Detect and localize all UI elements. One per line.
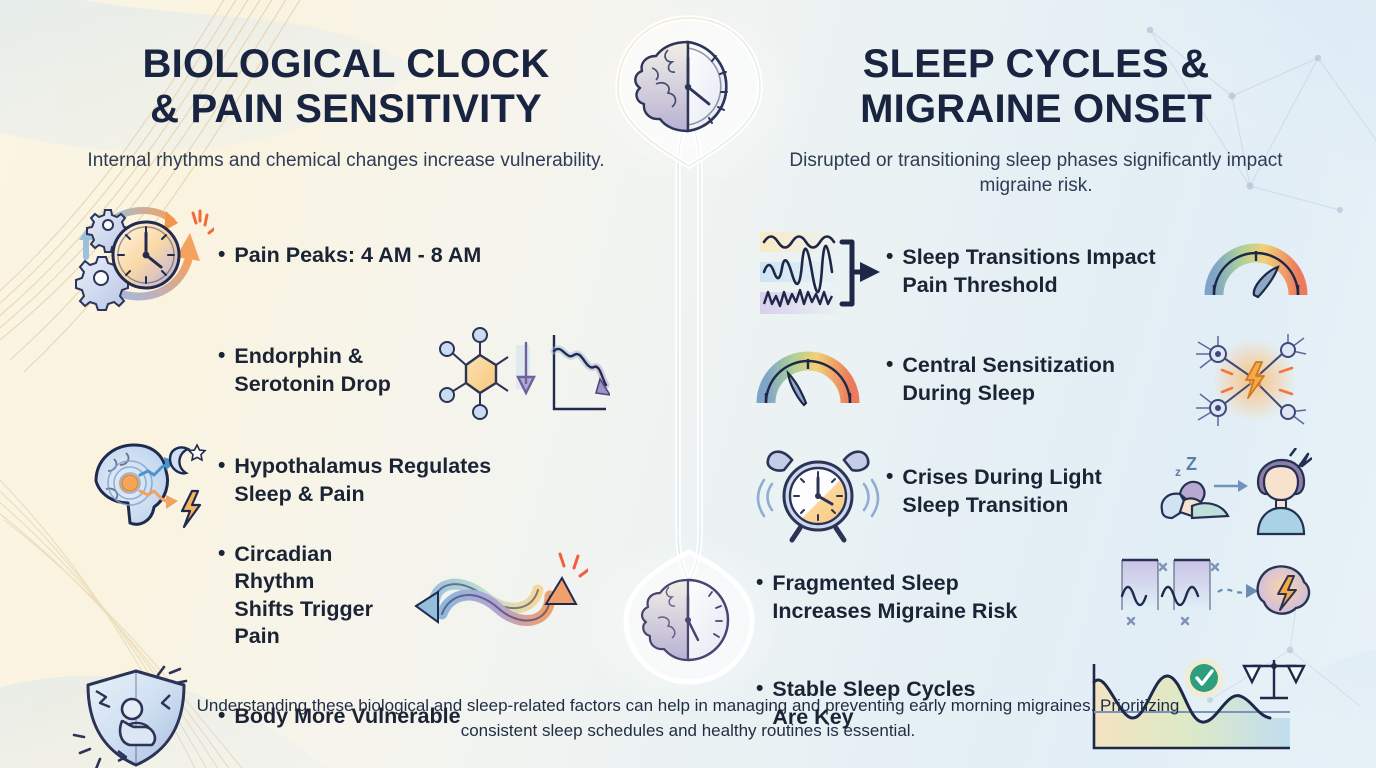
bullet-dot: •: [218, 242, 225, 269]
list-item-text: • Crises During Light Sleep Transition: [886, 464, 1158, 519]
brainwave-bands-arrow-icon: [756, 224, 882, 320]
clock-gears-arrows-icon: [66, 199, 214, 313]
alarm-clock-icon: [756, 440, 880, 544]
right-column-title: SLEEP CYCLES & MIGRAINE ONSET: [756, 42, 1316, 132]
footer-note: Understanding these biological and sleep…: [188, 694, 1188, 743]
right-column-subtitle: Disrupted or transitioning sleep phases …: [756, 148, 1316, 198]
fragmented-wave-brain-icon: [1116, 552, 1312, 644]
list-item-text: • Hypothalamus Regulates Sleep & Pain: [218, 453, 626, 508]
gauge-meter-icon: [756, 349, 860, 411]
svg-text:z: z: [1175, 465, 1181, 479]
neuron-spark-icon: [1188, 328, 1310, 432]
list-item: • Hypothalamus Regulates Sleep & Pain: [66, 429, 626, 533]
right-column: SLEEP CYCLES & MIGRAINE ONSET Disrupted …: [756, 42, 1316, 756]
list-item-text: • Circadian Rhythm Shifts Trigger Pain: [218, 541, 404, 651]
bullet-dot: •: [756, 570, 763, 597]
right-items-list: • Sleep Transitions Impact Pain Threshol…: [756, 224, 1316, 756]
list-item: • Sleep Transitions Impact Pain Threshol…: [756, 224, 1316, 320]
list-item: • Central Sensitization During Sleep: [756, 328, 1316, 432]
list-item: • Fragmented Sleep Increases Migraine Ri…: [756, 552, 1316, 644]
sleeping-to-headache-icon: Z z: [1158, 448, 1312, 536]
infinity-loop-arrows-icon: [404, 544, 588, 648]
list-item-text: • Pain Peaks: 4 AM - 8 AM: [218, 242, 626, 270]
list-item: • Endorphin & Serotonin Drop: [66, 321, 626, 421]
list-item-text: • Endorphin & Serotonin Drop: [218, 343, 414, 398]
list-item-text: • Sleep Transitions Impact Pain Threshol…: [886, 244, 1204, 299]
bullet-dot: •: [218, 541, 225, 568]
left-column-title: BIOLOGICAL CLOCK & PAIN SENSITIVITY: [66, 42, 626, 132]
list-item-text: • Fragmented Sleep Increases Migraine Ri…: [756, 570, 1116, 625]
list-item: • Circadian Rhythm Shifts Trigger Pain: [66, 541, 626, 651]
bullet-dot: •: [886, 244, 893, 271]
left-column-subtitle: Internal rhythms and chemical changes in…: [66, 148, 626, 173]
molecule-down-arrow-icon: [414, 321, 610, 421]
brain-clock-pin-icon-bottom: [626, 552, 752, 682]
left-column: BIOLOGICAL CLOCK & PAIN SENSITIVITY Inte…: [66, 42, 626, 768]
bullet-dot: •: [218, 343, 225, 370]
list-item: • Crises During Light Sleep Transition Z…: [756, 440, 1316, 544]
list-item-text: • Central Sensitization During Sleep: [886, 352, 1188, 407]
brain-moon-bolt-icon: [66, 429, 216, 533]
brain-clock-pin-icon-top: [618, 18, 760, 166]
svg-text:Z: Z: [1186, 454, 1197, 474]
gauge-meter-icon: [1204, 241, 1308, 303]
list-item: • Pain Peaks: 4 AM - 8 AM: [66, 199, 626, 313]
bullet-dot: •: [886, 352, 893, 379]
left-items-list: • Pain Peaks: 4 AM - 8 AM • Endorphin & …: [66, 199, 626, 768]
bullet-dot: •: [886, 464, 893, 491]
bullet-dot: •: [218, 453, 225, 480]
infographic-canvas: BIOLOGICAL CLOCK & PAIN SENSITIVITY Inte…: [0, 0, 1376, 768]
